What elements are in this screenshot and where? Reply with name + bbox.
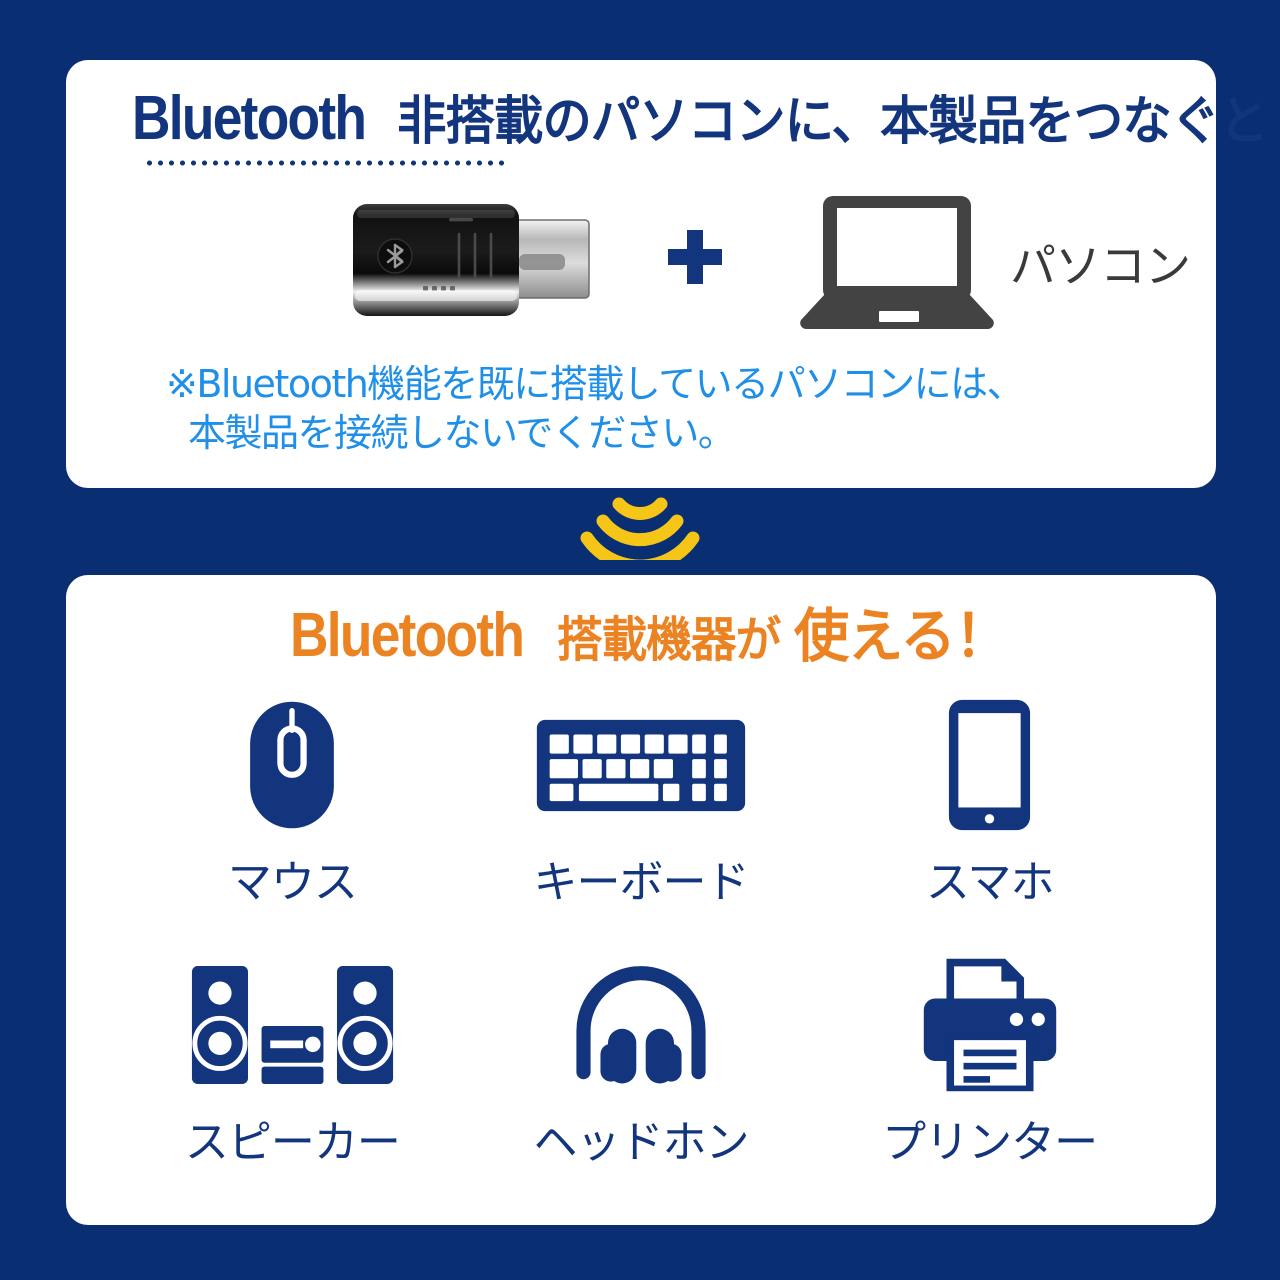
- top-headline-latin: Bluetooth: [132, 88, 365, 150]
- laptop-label: パソコン: [1010, 230, 1190, 296]
- hero-row: パソコン: [132, 188, 1280, 338]
- device-item-headphones: ヘッドホン: [467, 950, 816, 1210]
- bottom-headline-japanese: 搭載機器が: [557, 616, 780, 664]
- bottom-headline-emphasis: 使える！: [794, 607, 1009, 665]
- smartphone-icon: [815, 690, 1164, 840]
- infographic-stage: Bluetooth非搭載のパソコンに、本製品をつなぐと・・・: [0, 0, 1280, 1280]
- top-panel-card: Bluetooth非搭載のパソコンに、本製品をつなぐと・・・: [66, 60, 1216, 488]
- top-headline: Bluetooth非搭載のパソコンに、本製品をつなぐと・・・: [132, 88, 1152, 150]
- wireless-waves-icon: [578, 494, 702, 560]
- device-grid: マウス: [118, 690, 1164, 1210]
- mouse-icon: [118, 690, 467, 840]
- device-item-keyboard: キーボード: [467, 690, 816, 950]
- device-item-printer: プリンター: [815, 950, 1164, 1210]
- dotted-underline: [144, 160, 506, 166]
- keyboard-icon: [467, 690, 816, 840]
- speaker-icon: [118, 950, 467, 1100]
- plus-icon: [660, 226, 730, 296]
- device-item-mouse: マウス: [118, 690, 467, 950]
- compatibility-note: ※Bluetooth機能を既に搭載しているパソコンには、 本製品を接続しないでく…: [166, 360, 1023, 459]
- device-label-printer: プリンター: [882, 1106, 1097, 1170]
- note-line-2: 本製品を接続しないでください。: [166, 409, 1023, 458]
- device-label-speaker: スピーカー: [185, 1106, 400, 1170]
- usb-bluetooth-adapter: [347, 194, 597, 326]
- device-label-headphones: ヘッドホン: [533, 1106, 748, 1170]
- headphones-icon: [467, 950, 816, 1100]
- device-label-keyboard: キーボード: [533, 846, 748, 910]
- bottom-headline: Bluetooth搭載機器が使える！: [290, 605, 1021, 667]
- laptop-icon: [797, 194, 997, 329]
- bottom-panel-card: Bluetooth搭載機器が使える！ マウス: [66, 575, 1216, 1225]
- top-headline-japanese: 非搭載のパソコンに、本製品をつなぐと・・・: [397, 96, 1280, 148]
- note-line-1: ※Bluetooth機能を既に搭載しているパソコンには、: [166, 362, 1023, 406]
- device-item-smartphone: スマホ: [815, 690, 1164, 950]
- device-item-speaker: スピーカー: [118, 950, 467, 1210]
- device-label-smartphone: スマホ: [926, 846, 1054, 910]
- device-label-mouse: マウス: [228, 846, 357, 910]
- printer-icon: [815, 950, 1164, 1100]
- bottom-headline-latin: Bluetooth: [290, 605, 523, 667]
